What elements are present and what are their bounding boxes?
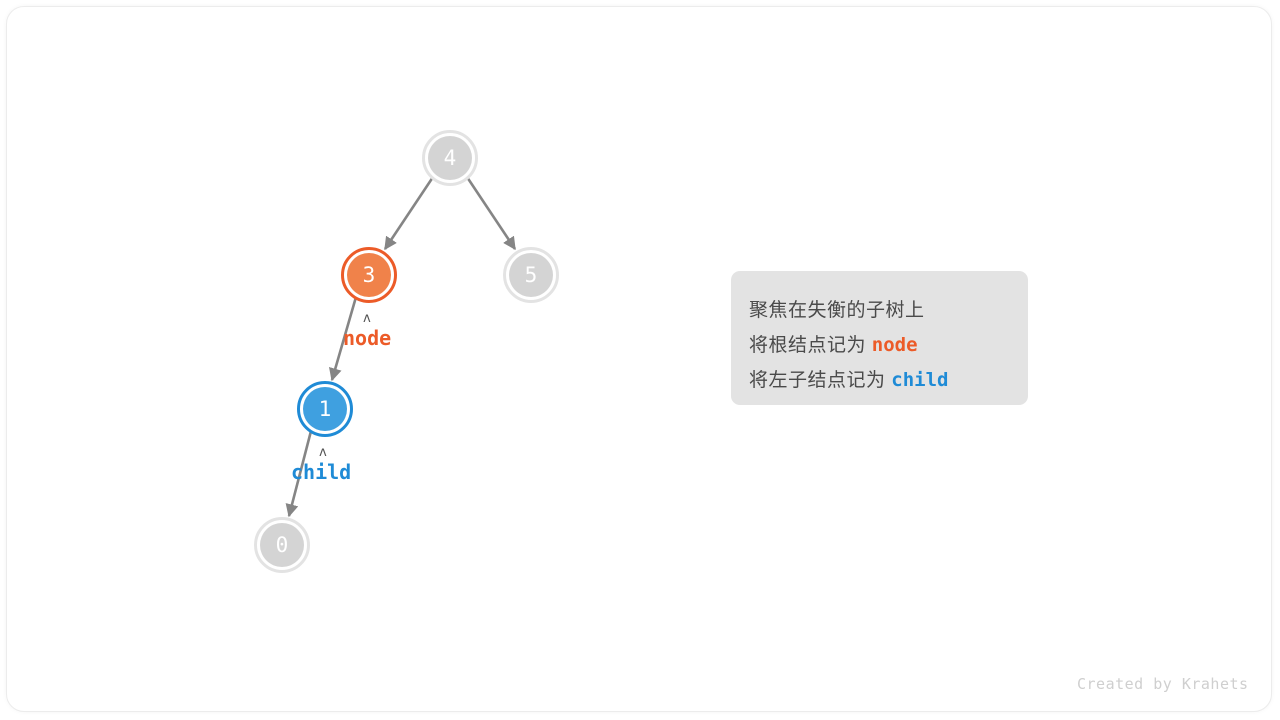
node-3-value: 3	[363, 263, 376, 287]
footer-credit: Created by Krahets	[1077, 675, 1249, 693]
annotation-line-3: 将左子结点记为 child	[749, 363, 1028, 398]
annotation-line-1-text: 聚焦在失衡的子树上	[749, 300, 925, 321]
annotation-line-2-prefix: 将根结点记为	[749, 335, 866, 356]
annotation-line-2: 将根结点记为 node	[749, 328, 1028, 363]
binary-tree-graphic: 4 3 5 1 0	[0, 0, 1280, 720]
node-pointer-label: node	[343, 326, 391, 350]
annotation-line-3-prefix: 将左子结点记为	[749, 370, 886, 391]
node-0-value: 0	[276, 533, 289, 557]
tree-node-1[interactable]: 1	[299, 383, 352, 436]
diagram-canvas: 4 3 5 1 0 ʌ node ʌ child	[0, 0, 1280, 720]
node-5-value: 5	[525, 263, 538, 287]
tree-node-3[interactable]: 3	[343, 249, 396, 302]
annotation-line-3-code: child	[891, 369, 948, 391]
child-pointer-label: child	[291, 460, 351, 484]
annotation-line-1: 聚焦在失衡的子树上	[749, 293, 1028, 328]
annotation-line-2-code: node	[872, 334, 918, 356]
node-4-value: 4	[444, 146, 457, 170]
tree-node-0[interactable]: 0	[256, 519, 309, 572]
edge-4-3	[385, 177, 433, 249]
tree-node-5[interactable]: 5	[505, 249, 558, 302]
node-1-value: 1	[319, 397, 332, 421]
child-pointer-caret-icon: ʌ	[319, 446, 327, 459]
annotation-box: 聚焦在失衡的子树上 将根结点记为 node 将左子结点记为 child	[731, 271, 1028, 405]
edge-4-5	[467, 177, 515, 249]
node-pointer-caret-icon: ʌ	[363, 312, 371, 325]
tree-node-4[interactable]: 4	[424, 132, 477, 185]
